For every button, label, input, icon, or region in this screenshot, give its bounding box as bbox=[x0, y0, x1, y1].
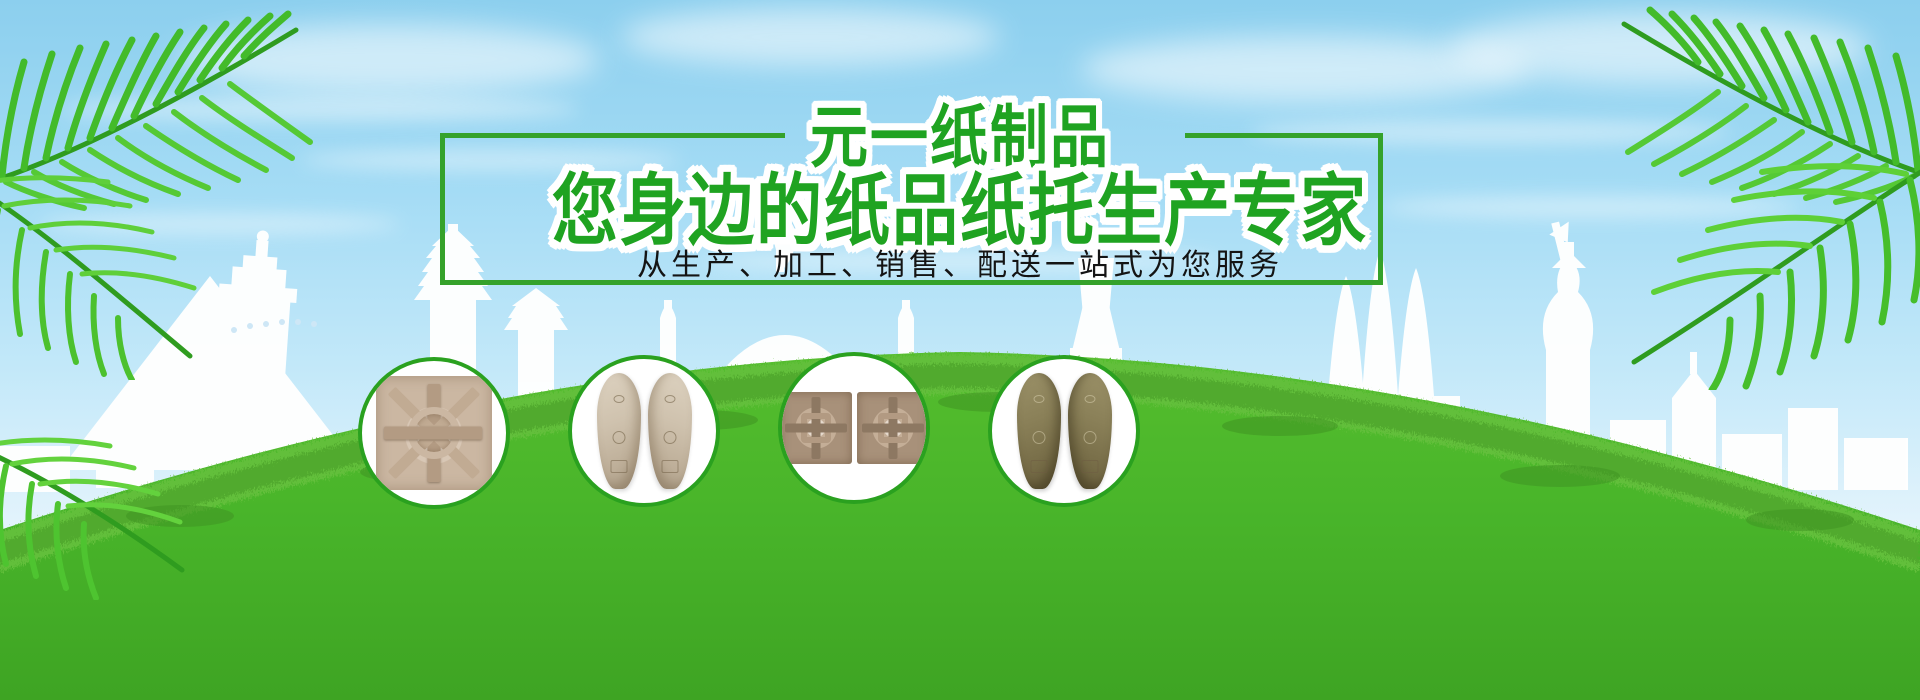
product-circle-shoe-shaper-light[interactable]: 浅色纸浆鞋撑一对 bbox=[568, 355, 720, 507]
pulp-tray-image bbox=[376, 376, 492, 490]
tray-cross-ribs bbox=[376, 376, 492, 490]
mold-half-right bbox=[857, 392, 929, 464]
shoe-shaper-right bbox=[1068, 373, 1112, 489]
promo-banner: 元一纸制品 您身边的纸品纸托生产专家 从生产、加工、销售、配送一站式为您服务 纸… bbox=[0, 0, 1920, 700]
shoe-shaper-left bbox=[597, 373, 641, 489]
product-circle-group: 纸浆模塑方形托盘 浅色纸浆鞋撑一对 bbox=[0, 0, 1920, 700]
product-circle-mold-set[interactable]: 纸浆模塑双件套 bbox=[778, 352, 930, 504]
shoe-shaper-left bbox=[1017, 373, 1061, 489]
shoe-shaper-right bbox=[648, 373, 692, 489]
shoe-shaper-light-image bbox=[597, 373, 692, 489]
product-circle-pulp-tray[interactable]: 纸浆模塑方形托盘 bbox=[358, 357, 510, 509]
shoe-shaper-dark-image bbox=[1017, 373, 1112, 489]
mold-half-left bbox=[780, 392, 852, 464]
pulp-mold-set-image bbox=[780, 392, 929, 464]
tray-center-ring bbox=[408, 407, 460, 459]
product-circle-shoe-shaper-dark[interactable]: 深色纸浆鞋撑一对 bbox=[988, 355, 1140, 507]
